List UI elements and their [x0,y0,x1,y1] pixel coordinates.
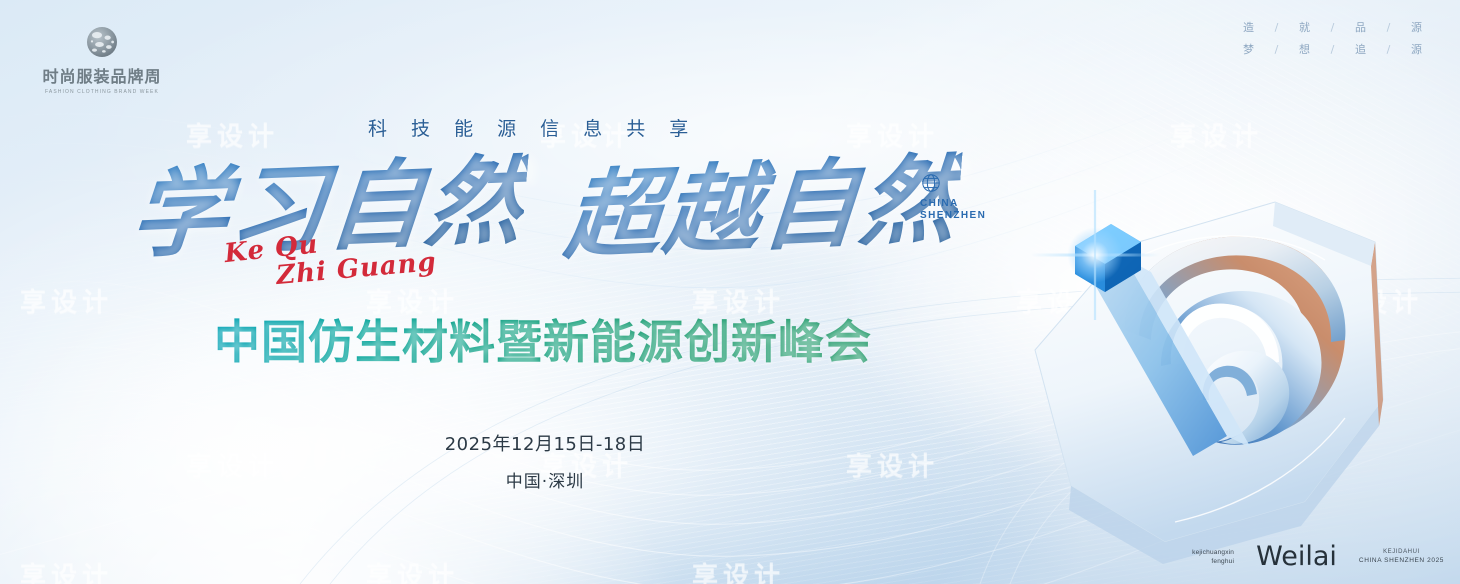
globe-icon [920,172,942,194]
slogan-separator: / [1382,39,1396,61]
event-location: 中国·深圳 [0,467,1090,492]
slogan-separator: / [1382,17,1396,39]
sponsor-wordmark: Weilai [1256,541,1337,572]
slogan-char: 想 [1284,39,1326,61]
event-date: 2025年12月15日-18日 [0,430,1090,456]
watermark-text: 享设计 [20,556,113,584]
watermark-text: 享设计 [692,556,785,584]
sponsor-left-line-1: kejichuangxin [1192,548,1234,557]
headline-word-1: 学习自然 [127,151,529,267]
kicker-text: 科 技 能 源 信 息 共 享 [368,114,697,141]
slogan-separator: / [1270,39,1284,61]
sponsor-left-line-2: fenghui [1192,557,1234,566]
slogan-char: 品 [1340,17,1382,39]
globe-icon [82,22,122,62]
slogan-char: 源 [1396,39,1438,61]
slogan-separator: / [1326,39,1340,61]
event-date-block: 2025年12月15日-18日 中国·深圳 [0,430,1090,492]
main-headline: 学习自然 超越自然 [132,158,958,259]
brand-logo: 时尚服装品牌周 FASHION CLOTHING BRAND WEEK [27,22,177,95]
watermark-text: 享设计 [20,282,113,319]
slogan-separator: / [1326,17,1340,39]
watermark-text: 享设计 [186,116,279,153]
brand-name-en: FASHION CLOTHING BRAND WEEK [27,89,177,95]
slogan-char: 源 [1396,17,1438,39]
slogan-char: 梦 [1228,39,1270,61]
sponsor-right-text: KEJIDAHUI CHINA SHENZHEN 2025 [1359,549,1444,564]
sponsor-right-line-2: CHINA SHENZHEN 2025 [1359,557,1444,564]
sponsor-left-text: kejichuangxin fenghui [1192,548,1234,566]
slogan-char: 追 [1340,39,1382,61]
event-subtitle: 中国仿生材料暨新能源创新峰会 [214,306,872,372]
slogan-row-2: 梦/想/追/源 [1228,39,1438,61]
slogan-char: 就 [1284,17,1326,39]
slogan-block: 造/就/品/源 梦/想/追/源 [1228,17,1438,61]
poster-canvas: 享设计享设计享设计享设计享设计享设计享设计享设计享设计享设计享设计享设计享设计享… [0,0,1460,584]
sponsor-marks: kejichuangxin fenghui Weilai KEJIDAHUI C… [1192,541,1444,572]
brand-name-cn: 时尚服装品牌周 [27,68,177,86]
headline-word-2: 超越自然 [561,149,963,267]
slogan-row-1: 造/就/品/源 [1228,17,1438,39]
slogan-separator: / [1270,17,1284,39]
sponsor-right-line-1: KEJIDAHUI [1359,549,1444,555]
watermark-text: 享设计 [366,556,459,584]
watermark-text: 享设计 [1170,116,1263,153]
slogan-char: 造 [1228,17,1270,39]
abstract-3d-spiral-target-sculpture [975,150,1405,570]
